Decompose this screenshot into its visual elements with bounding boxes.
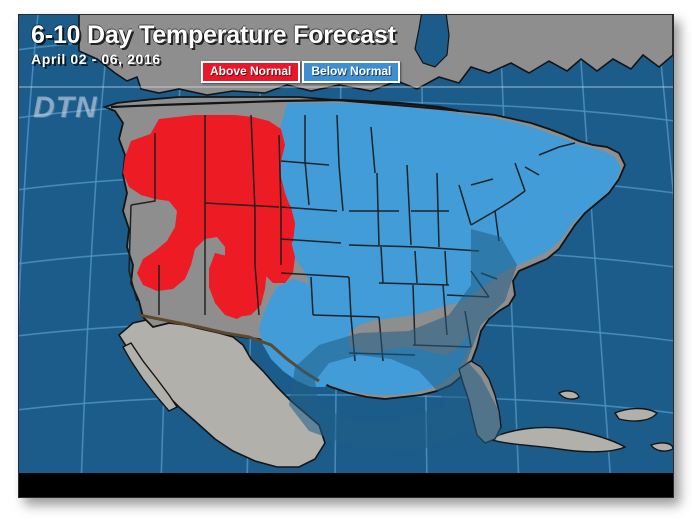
forecast-map-image: DTN 6-10 Day Temperature Forecast April … <box>18 14 674 498</box>
legend-above-normal: Above Normal <box>201 61 300 83</box>
above-normal-southwest-lobe <box>153 255 181 287</box>
page-root: DTN 6-10 Day Temperature Forecast April … <box>0 0 692 532</box>
legend-below-normal: Below Normal <box>302 61 400 83</box>
map-svg <box>19 15 673 473</box>
map-legend: Above Normal Below Normal <box>201 61 400 83</box>
bottom-black-bar <box>19 473 673 497</box>
map-canvas: DTN 6-10 Day Temperature Forecast April … <box>19 15 673 473</box>
